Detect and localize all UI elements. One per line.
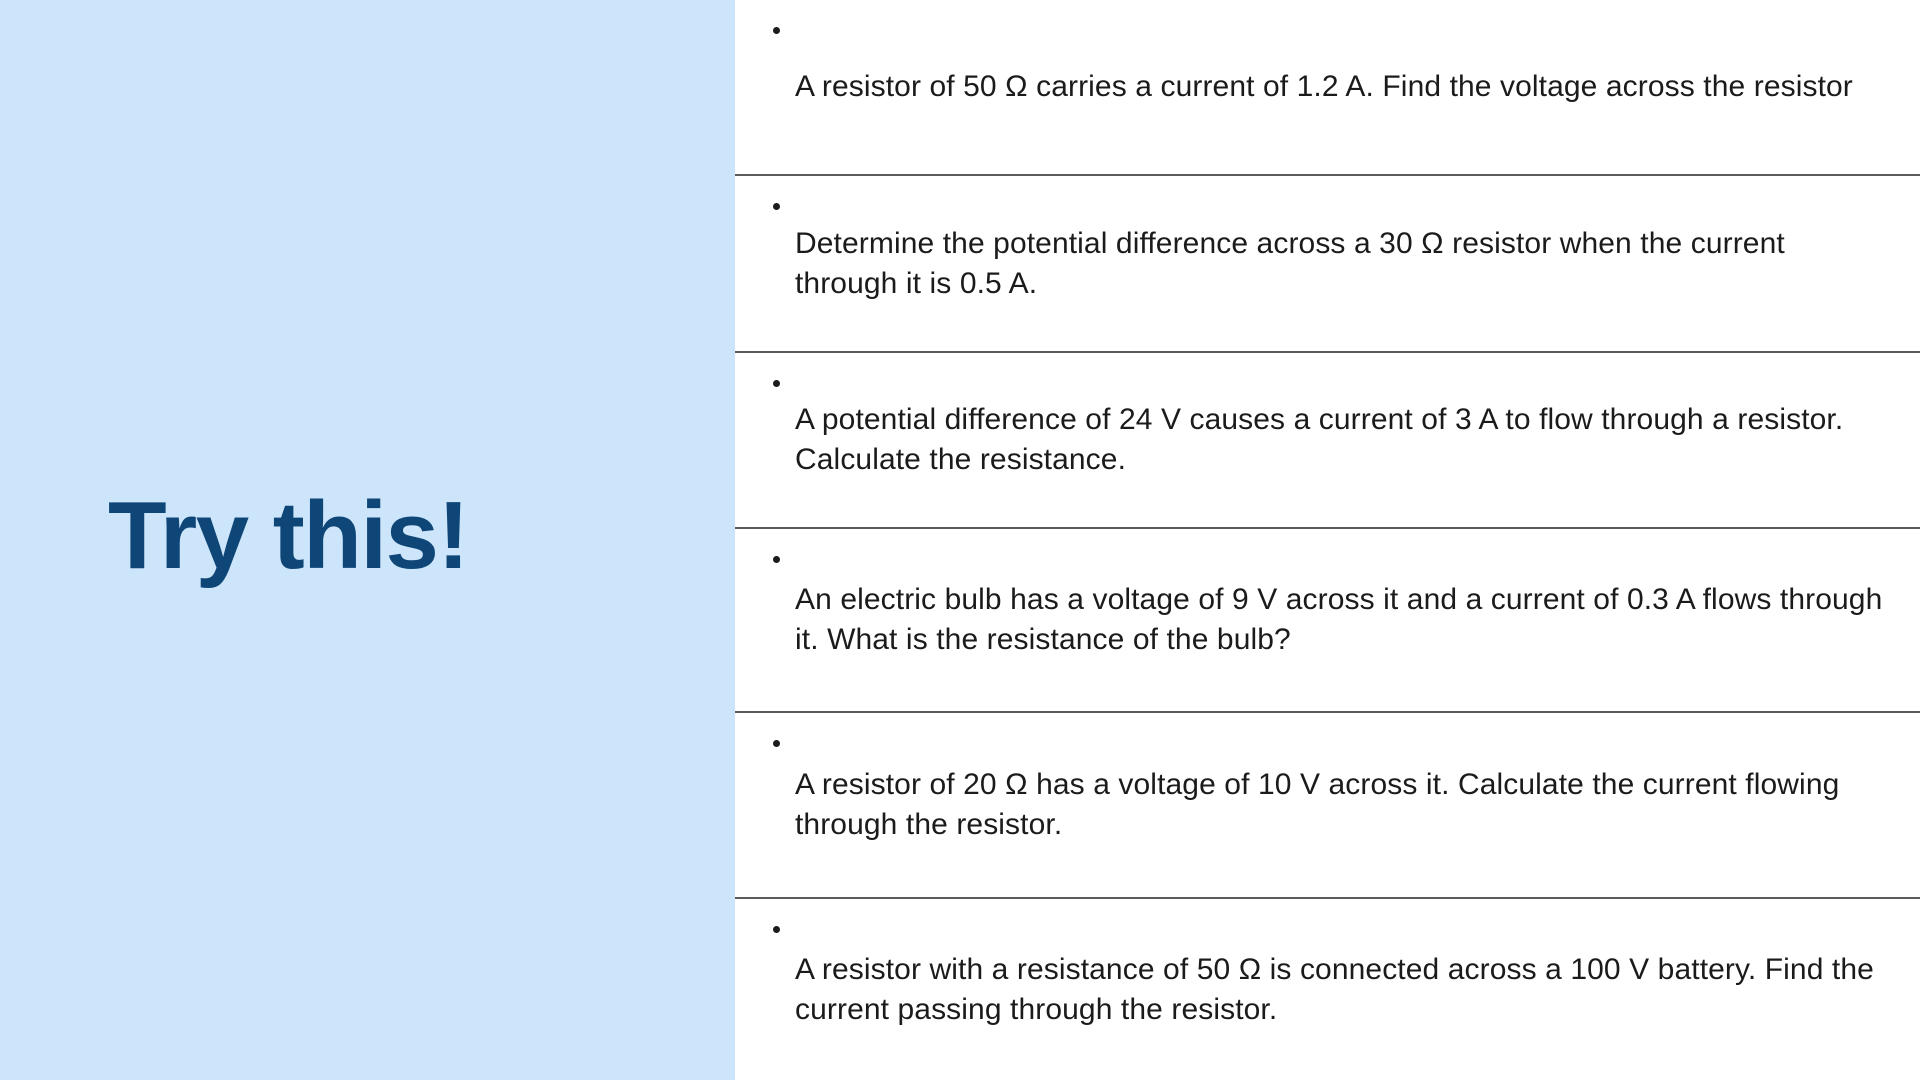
list-item: A resistor of 50 Ω carries a current of … bbox=[735, 0, 1920, 176]
question-text: A resistor of 20 Ω has a voltage of 10 V… bbox=[795, 765, 1890, 844]
bullet-dot-icon bbox=[773, 556, 780, 563]
list-item: Determine the potential difference acros… bbox=[735, 176, 1920, 353]
list-item: A potential difference of 24 V causes a … bbox=[735, 353, 1920, 529]
question-list: A resistor of 50 Ω carries a current of … bbox=[735, 0, 1920, 1080]
question-text: Determine the potential difference acros… bbox=[795, 224, 1890, 303]
bullet-dot-icon bbox=[773, 27, 780, 34]
questions-panel: A resistor of 50 Ω carries a current of … bbox=[735, 0, 1920, 1080]
list-item: An electric bulb has a voltage of 9 V ac… bbox=[735, 529, 1920, 713]
bullet-dot-icon bbox=[773, 740, 780, 747]
question-text: A resistor with a resistance of 50 Ω is … bbox=[795, 950, 1890, 1029]
question-text: An electric bulb has a voltage of 9 V ac… bbox=[795, 580, 1890, 659]
question-text: A potential difference of 24 V causes a … bbox=[795, 400, 1890, 479]
question-text: A resistor of 50 Ω carries a current of … bbox=[795, 67, 1853, 107]
bullet-dot-icon bbox=[773, 926, 780, 933]
bullet-dot-icon bbox=[773, 203, 780, 210]
list-item: A resistor with a resistance of 50 Ω is … bbox=[735, 899, 1920, 1080]
bullet-dot-icon bbox=[773, 380, 780, 387]
page-title: Try this! bbox=[108, 486, 468, 587]
title-panel: Try this! bbox=[0, 0, 735, 1080]
slide-root: Try this! A resistor of 50 Ω carries a c… bbox=[0, 0, 1920, 1080]
list-item: A resistor of 20 Ω has a voltage of 10 V… bbox=[735, 713, 1920, 899]
